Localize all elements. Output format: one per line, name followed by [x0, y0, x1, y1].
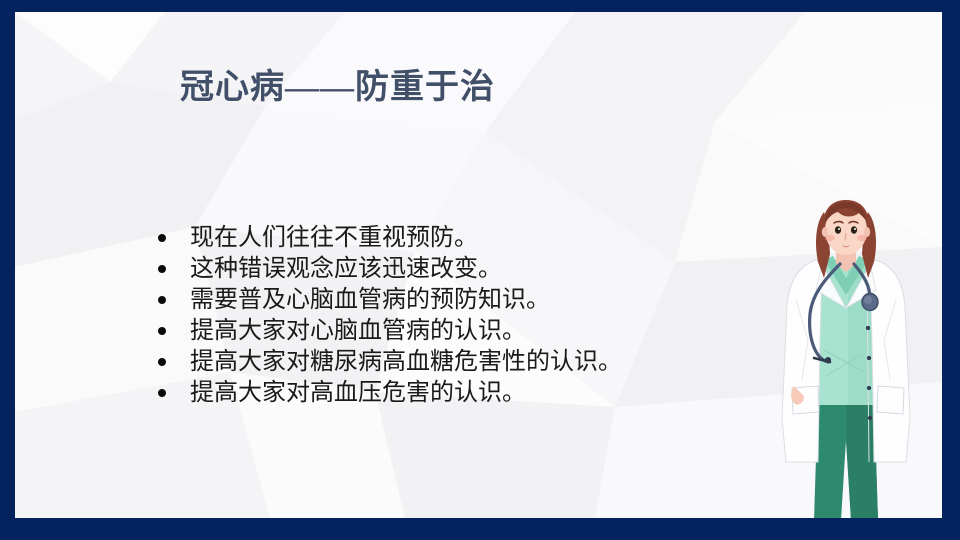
border-left [0, 0, 15, 540]
bullet-marker-icon [158, 358, 166, 366]
list-item: 提高大家对高血压危害的认识。 [155, 378, 622, 409]
border-top [0, 0, 960, 12]
list-item: 这种错误观念应该迅速改变。 [155, 254, 622, 285]
bullet-marker-icon [158, 234, 166, 242]
list-item-label: 提高大家对心脑血管病的认识。 [190, 316, 526, 347]
bullet-marker-icon [158, 389, 166, 397]
list-item-label: 这种错误观念应该迅速改变。 [190, 254, 502, 285]
list-item: 现在人们往往不重视预防。 [155, 223, 622, 254]
presentation-slide: 冠心病——防重于治 现在人们往往不重视预防。 这种错误观念应该迅速改变。 需要普… [0, 0, 960, 540]
doctor-figure-icon [756, 190, 936, 520]
slide-title: 冠心病——防重于治 [180, 68, 495, 108]
list-item-label: 需要普及心脑血管病的预防知识。 [190, 285, 550, 316]
list-item-label: 现在人们往往不重视预防。 [190, 223, 478, 254]
list-item-label: 提高大家对糖尿病高血糖危害性的认识。 [190, 347, 622, 378]
list-item: 需要普及心脑血管病的预防知识。 [155, 285, 622, 316]
bullet-marker-icon [158, 265, 166, 273]
border-bottom [0, 518, 960, 540]
female-doctor-illustration [756, 190, 936, 520]
list-item: 提高大家对糖尿病高血糖危害性的认识。 [155, 347, 622, 378]
list-item: 提高大家对心脑血管病的认识。 [155, 316, 622, 347]
bullet-marker-icon [158, 296, 166, 304]
bullet-marker-icon [158, 327, 166, 335]
bullet-list: 现在人们往往不重视预防。 这种错误观念应该迅速改变。 需要普及心脑血管病的预防知… [155, 223, 622, 409]
border-right [942, 0, 960, 540]
list-item-label: 提高大家对高血压危害的认识。 [190, 378, 526, 409]
